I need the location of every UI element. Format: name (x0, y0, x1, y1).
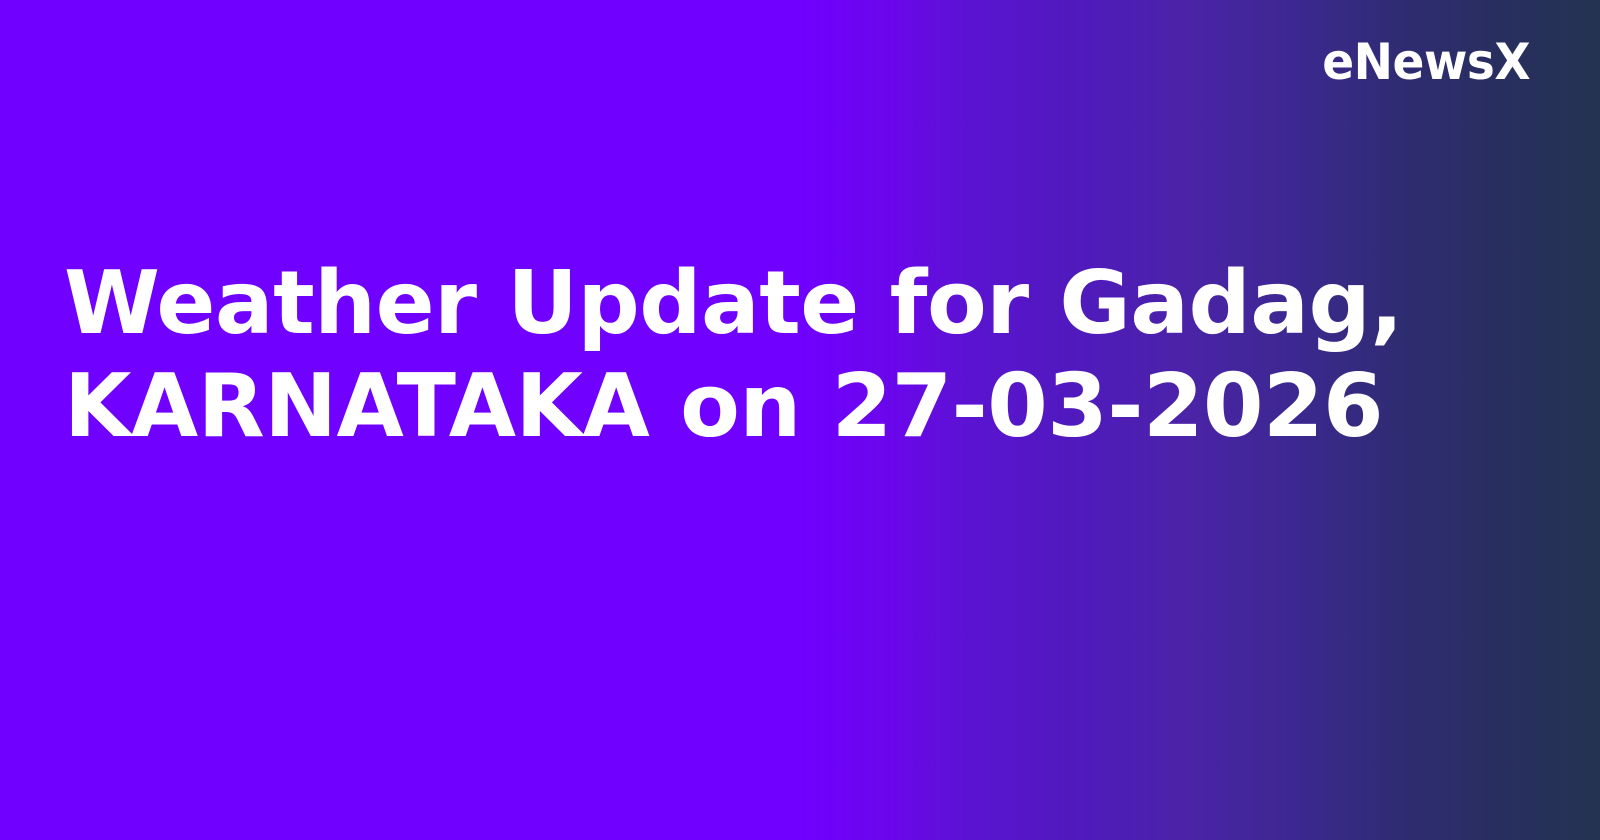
headline-block: Weather Update for Gadag, KARNATAKA on 2… (64, 252, 1404, 458)
brand-header: eNewsX (0, 0, 1600, 124)
news-hero-card: eNewsX Weather Update for Gadag, KARNATA… (0, 0, 1600, 840)
brand-logo[interactable]: eNewsX (1322, 37, 1530, 87)
page-title: Weather Update for Gadag, KARNATAKA on 2… (64, 252, 1404, 458)
